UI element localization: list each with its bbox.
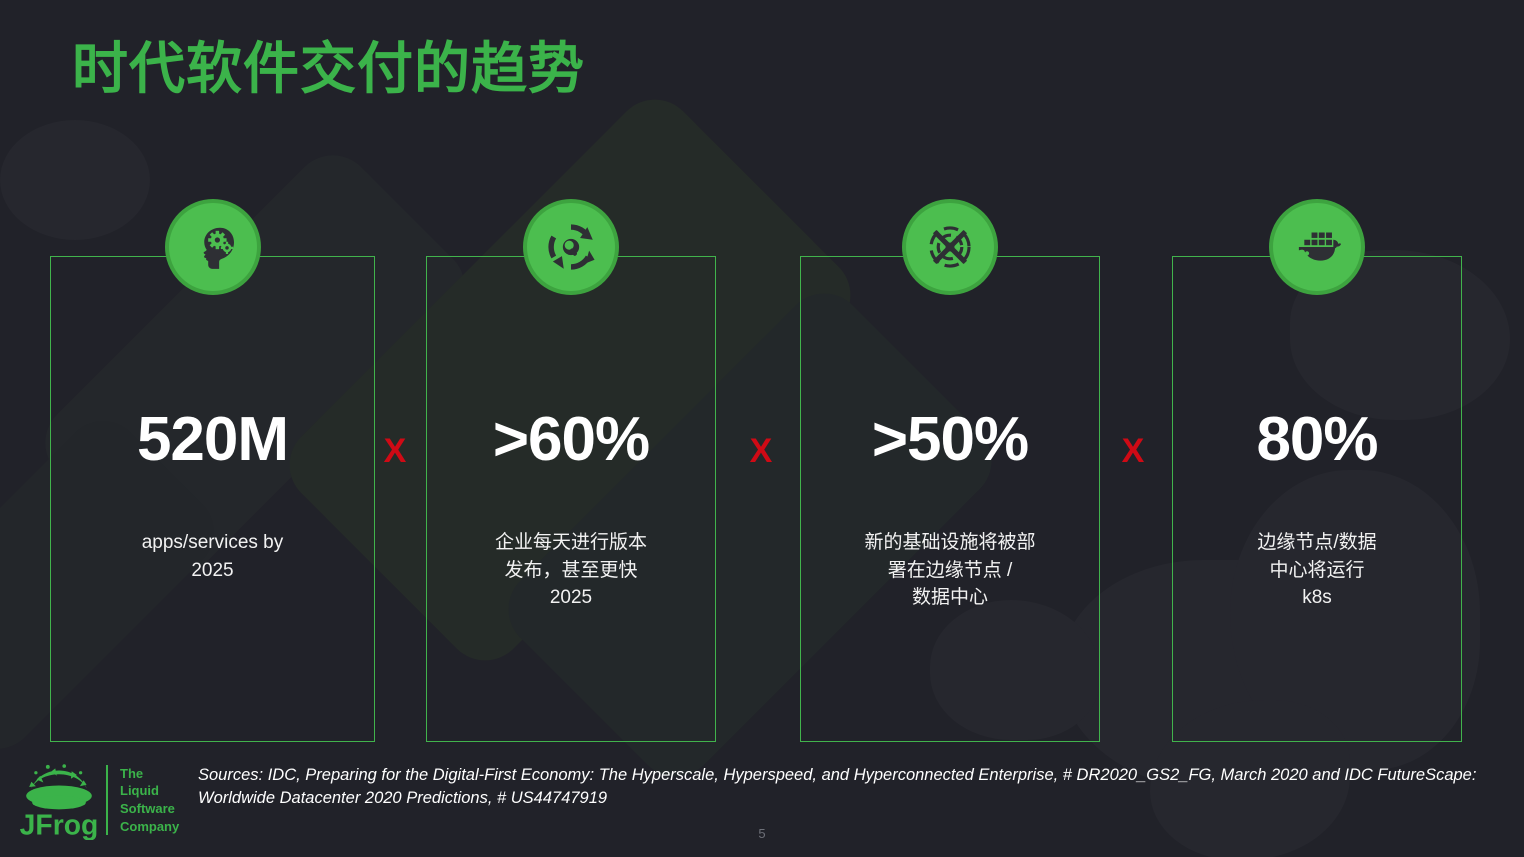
stat-description: 新的基础设施将被部 署在边缘节点 / 数据中心 bbox=[801, 529, 1099, 612]
stat-value: 80% bbox=[1173, 409, 1461, 471]
page-number: 5 bbox=[0, 826, 1524, 841]
page-title: 时代软件交付的趋势 bbox=[72, 38, 585, 100]
stat-value: >60% bbox=[427, 409, 715, 471]
crosshair-target-icon bbox=[902, 199, 998, 295]
stat-card-1: 520M apps/services by 2025 bbox=[50, 256, 375, 742]
stat-description: 边缘节点/数据 中心将运行 k8s bbox=[1173, 529, 1461, 612]
docker-whale-icon bbox=[1269, 199, 1365, 295]
head-with-gears-icon bbox=[165, 199, 261, 295]
logo-divider bbox=[106, 765, 108, 835]
background-blob bbox=[0, 120, 150, 240]
stat-value: >50% bbox=[801, 409, 1099, 471]
stat-value: 520M bbox=[51, 409, 374, 471]
slide-canvas: 时代软件交付的趋势 bbox=[0, 0, 1524, 857]
sources-note: Sources: IDC, Preparing for the Digital-… bbox=[198, 764, 1508, 810]
jfrog-logo: JFrog The Liquid Software Company bbox=[18, 758, 179, 842]
multiplier-symbol: X bbox=[375, 434, 415, 468]
logo-tagline: The Liquid Software Company bbox=[120, 765, 179, 835]
stat-card-3: >50% 新的基础设施将被部 署在边缘节点 / 数据中心 bbox=[800, 256, 1100, 742]
stat-card-2: >60% 企业每天进行版本 发布，甚至更快 2025 bbox=[426, 256, 716, 742]
multiplier-symbol: X bbox=[741, 434, 781, 468]
svg-text:JFrog: JFrog bbox=[20, 810, 99, 840]
multiplier-symbol: X bbox=[1113, 434, 1153, 468]
stat-card-4: 80% 边缘节点/数据 中心将运行 k8s bbox=[1172, 256, 1462, 742]
continuous-refresh-icon bbox=[523, 199, 619, 295]
jfrog-frog-splash-icon: JFrog bbox=[18, 760, 100, 840]
stat-description: 企业每天进行版本 发布，甚至更快 2025 bbox=[427, 529, 715, 612]
stat-description: apps/services by 2025 bbox=[51, 529, 374, 584]
